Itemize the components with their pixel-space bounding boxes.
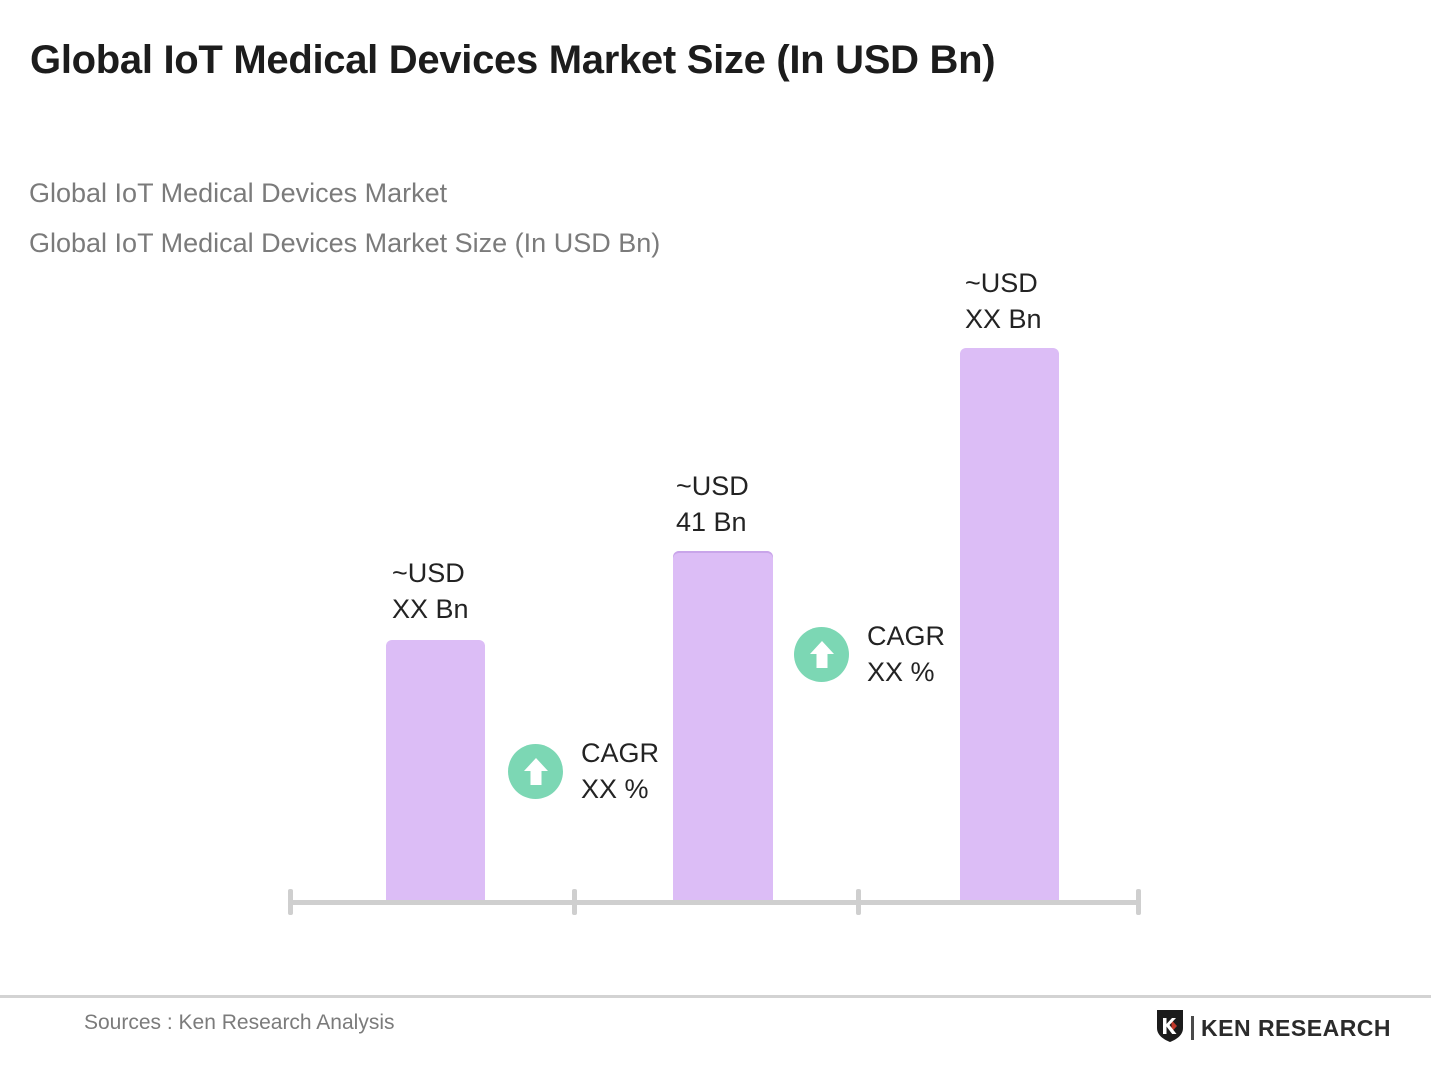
logo-wordmark: KEN RESEARCH xyxy=(1201,1015,1391,1042)
x-axis-tick-1 xyxy=(572,889,577,915)
sources-text: Sources : Ken Research Analysis xyxy=(84,1011,395,1035)
x-axis-line xyxy=(288,900,1141,905)
shield-k-logo-icon xyxy=(1155,1009,1185,1048)
bar-2[interactable] xyxy=(673,551,773,905)
cagr-annotation-2-line-1: CAGR xyxy=(867,621,945,651)
slide-canvas: Global IoT Medical Devices Market Size (… xyxy=(0,0,1431,1073)
cagr-annotation-1-line-2: XX % xyxy=(581,771,659,807)
x-axis-tick-end xyxy=(1136,889,1141,915)
cagr-annotation-2-text: CAGR XX % xyxy=(867,618,945,690)
x-axis-tick-2 xyxy=(856,889,861,915)
cagr-annotation-1: CAGR XX % xyxy=(508,735,659,807)
cagr-annotation-1-text: CAGR XX % xyxy=(581,735,659,807)
ken-research-logo: KEN RESEARCH xyxy=(1155,1011,1391,1045)
bar-chart: ~USD XX Bn ~USD 41 Bn ~USD XX Bn xyxy=(0,0,1431,1073)
arrow-up-icon xyxy=(794,627,849,682)
bar-3[interactable] xyxy=(960,348,1059,905)
bar-label-2: ~USD 41 Bn xyxy=(676,468,749,540)
bar-1[interactable] xyxy=(386,640,485,905)
bar-label-3-line-2: XX Bn xyxy=(965,301,1042,337)
arrow-up-icon xyxy=(508,744,563,799)
bar-label-3: ~USD XX Bn xyxy=(965,265,1042,337)
bar-label-1-line-1: ~USD xyxy=(392,558,465,588)
bar-label-1: ~USD XX Bn xyxy=(392,555,469,627)
cagr-annotation-2-line-2: XX % xyxy=(867,654,945,690)
bar-label-2-line-1: ~USD xyxy=(676,471,749,501)
bar-label-2-line-2: 41 Bn xyxy=(676,504,749,540)
cagr-annotation-2: CAGR XX % xyxy=(794,618,945,690)
x-axis-tick-start xyxy=(288,889,293,915)
bar-label-1-line-2: XX Bn xyxy=(392,591,469,627)
logo-divider xyxy=(1191,1016,1194,1040)
footer-divider xyxy=(0,995,1431,998)
cagr-annotation-1-line-1: CAGR xyxy=(581,738,659,768)
bar-label-3-line-1: ~USD xyxy=(965,268,1038,298)
